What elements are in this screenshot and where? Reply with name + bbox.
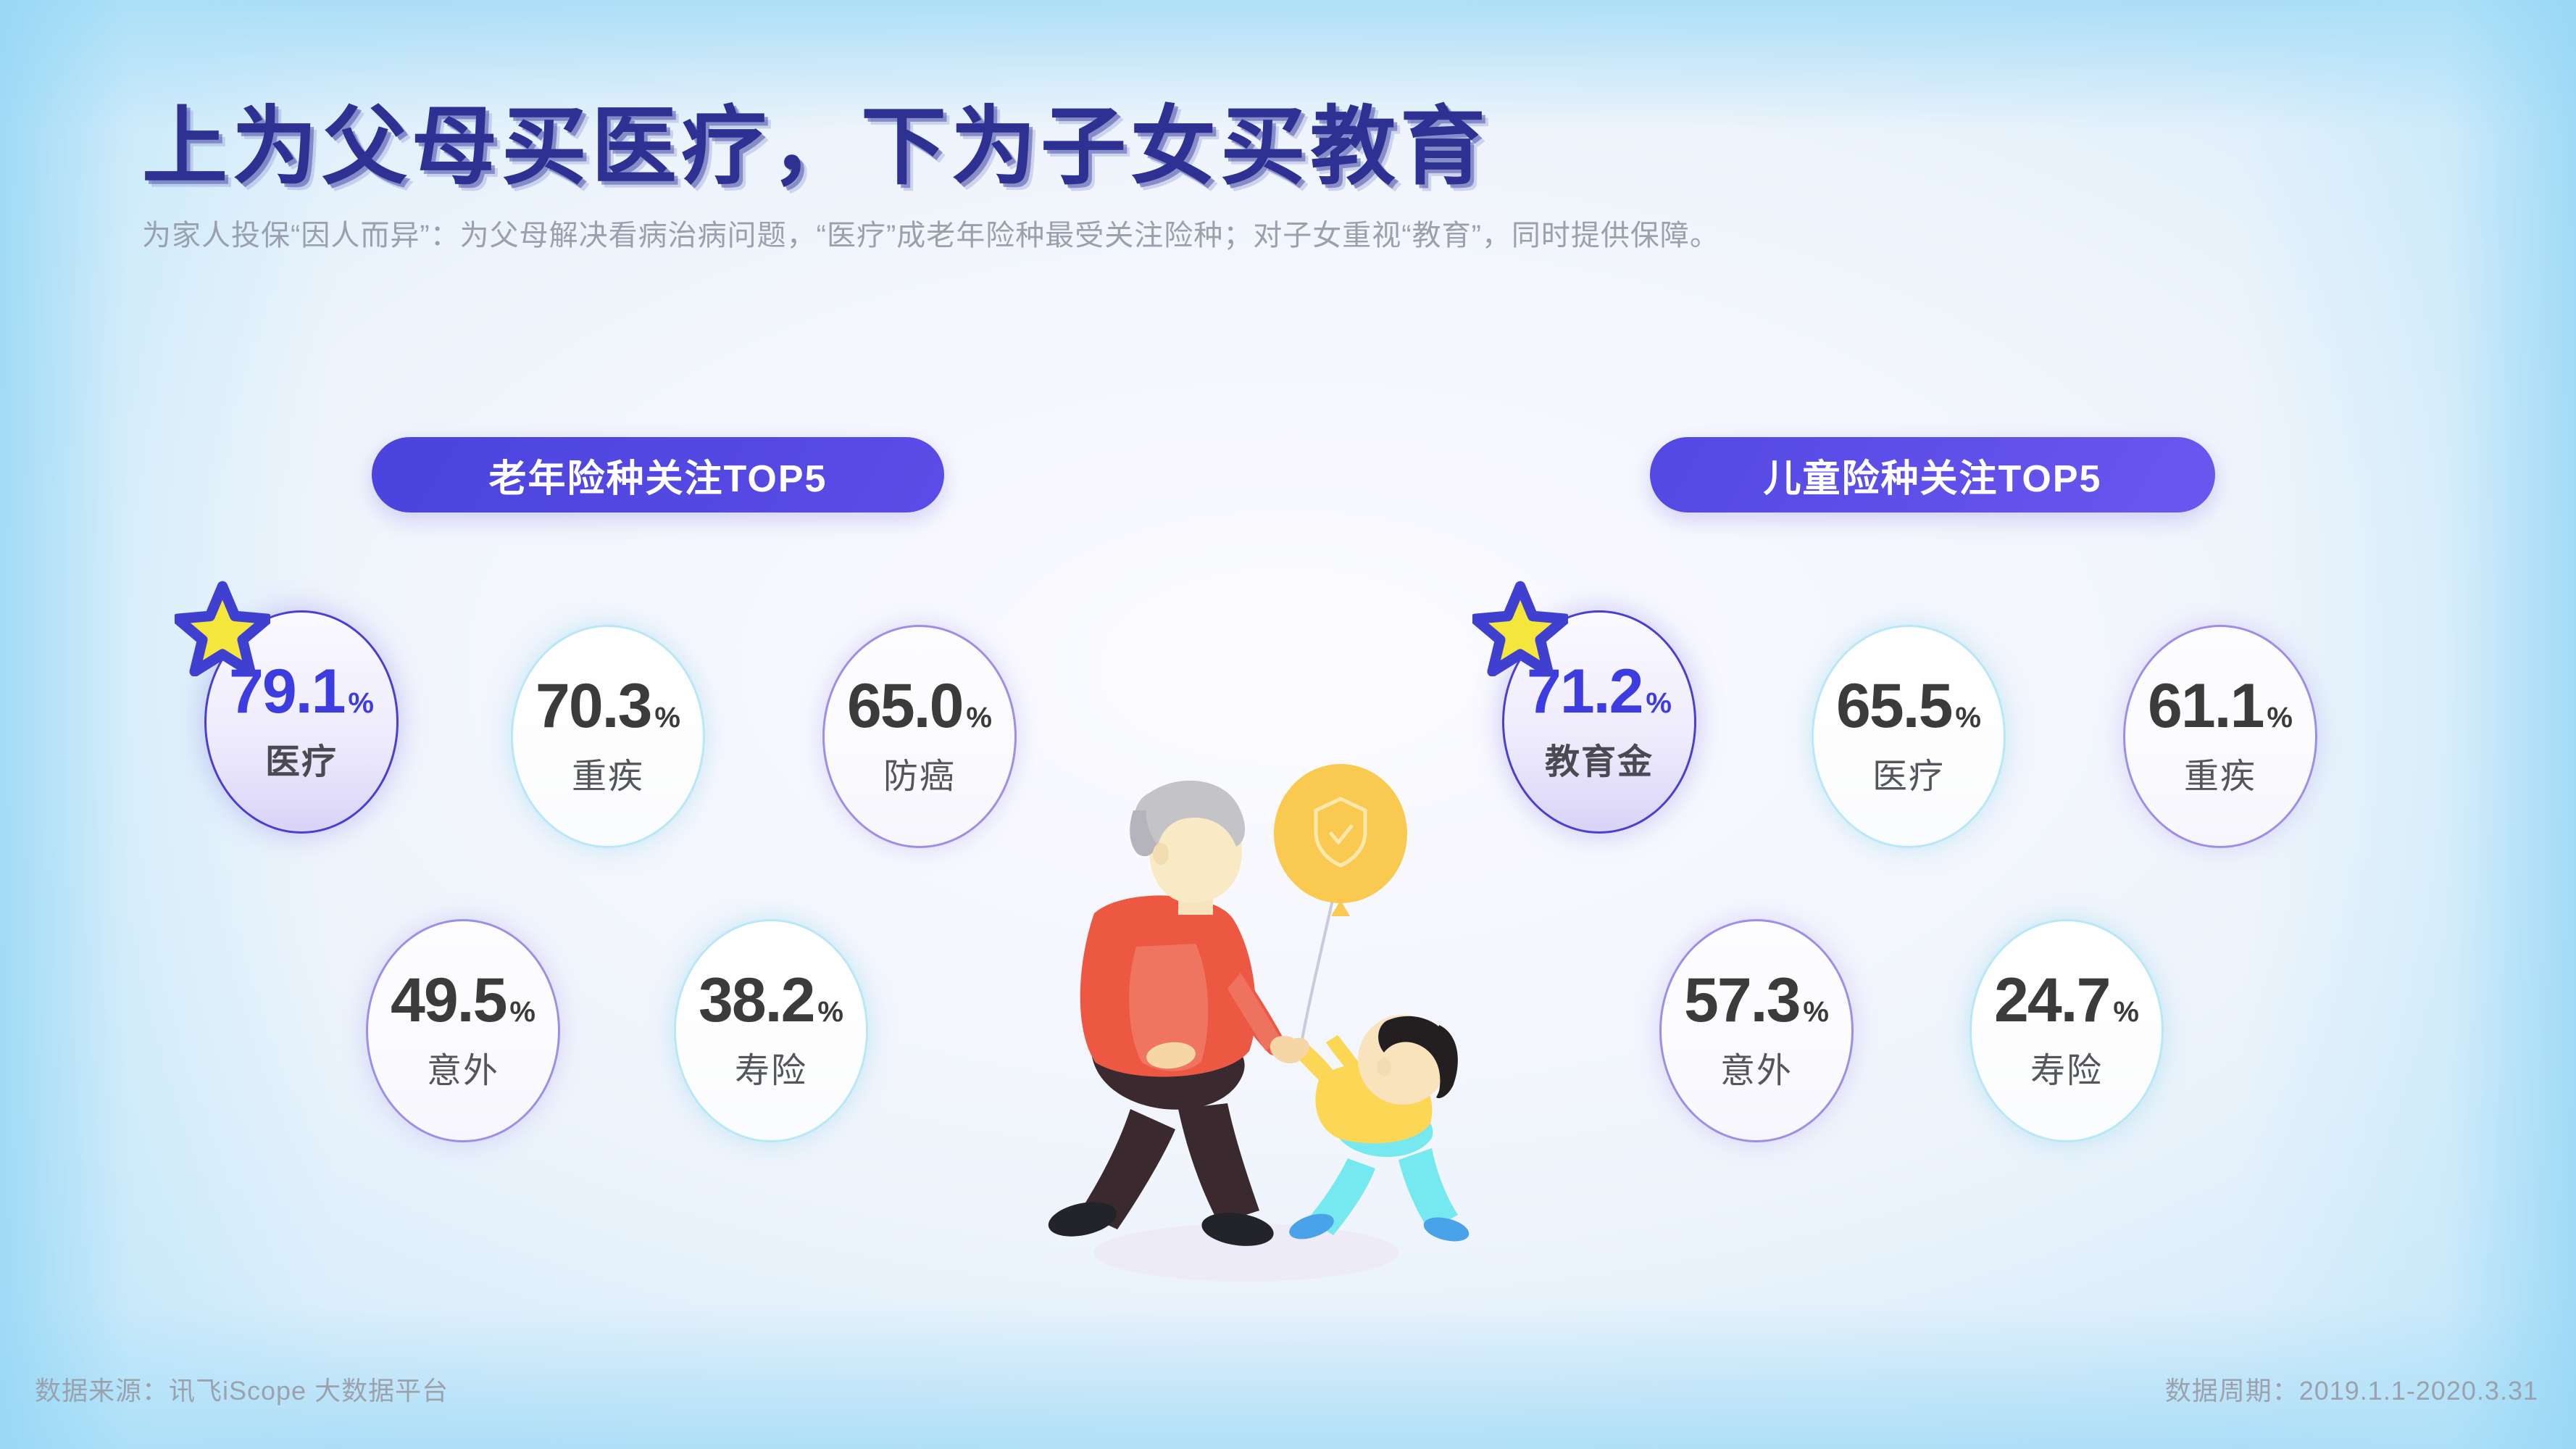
section-badge-elderly-label: 老年险种关注TOP5 <box>489 448 828 502</box>
stat-label: 意外 <box>1720 1042 1793 1092</box>
percent-sign: % <box>2113 997 2139 1026</box>
page-title: 上为父母买医疗，下为子女买教育 <box>142 101 2287 194</box>
stat-value-row: 61.1 % <box>2148 675 2293 737</box>
footer-source: 数据来源：讯飞iScope 大数据平台 <box>35 1370 449 1408</box>
grandmother-and-child-illustration <box>1007 732 1500 1305</box>
stat-label: 意外 <box>427 1042 499 1092</box>
stat-bubble: 38.2 % 寿险 <box>674 919 868 1142</box>
percent-sign: % <box>817 997 843 1026</box>
stat-label: 教育金 <box>1545 733 1654 784</box>
percent-sign: % <box>509 997 535 1026</box>
section-badge-children-label: 儿童险种关注TOP5 <box>1764 448 2102 502</box>
percent-sign: % <box>966 703 992 732</box>
stat-label: 寿险 <box>2030 1042 2103 1092</box>
stat-value: 61.1 <box>2148 675 2263 737</box>
stat-label: 医疗 <box>265 733 338 784</box>
percent-sign: % <box>2267 703 2293 732</box>
stat-value: 65.0 <box>847 675 962 737</box>
stat-value: 49.5 <box>391 969 506 1031</box>
stat-bubble: 49.5 % 意外 <box>366 919 560 1142</box>
stat-value-row: 70.3 % <box>535 675 680 737</box>
stat-label: 重疾 <box>2184 747 2256 798</box>
stat-value: 24.7 <box>1994 969 2109 1031</box>
stat-value-row: 65.0 % <box>847 675 992 737</box>
footer-period: 数据周期：2019.1.1-2020.3.31 <box>2165 1370 2538 1408</box>
page-subtitle: 为家人投保“因人而异”：为父母解决看病治病问题，“医疗”成老年险种最受关注险种；… <box>142 212 2272 260</box>
stat-bubble: 70.3 % 重疾 <box>511 625 705 848</box>
percent-sign: % <box>654 703 680 732</box>
stat-value-row: 65.5 % <box>1836 675 1981 737</box>
section-badge-elderly: 老年险种关注TOP5 <box>372 437 944 512</box>
star-icon <box>1472 581 1568 676</box>
percent-sign: % <box>1803 997 1829 1026</box>
stat-value-row: 24.7 % <box>1994 969 2139 1031</box>
stat-value: 65.5 <box>1836 675 1951 737</box>
stat-value-row: 57.3 % <box>1684 969 1829 1031</box>
stat-bubble: 65.0 % 防癌 <box>822 625 1017 848</box>
stat-bubble: 57.3 % 意外 <box>1659 919 1854 1142</box>
percent-sign: % <box>348 689 374 718</box>
infographic-root: 上为父母买医疗，下为子女买教育 为家人投保“因人而异”：为父母解决看病治病问题，… <box>0 0 2576 1449</box>
stat-label: 医疗 <box>1872 747 1945 798</box>
header: 上为父母买医疗，下为子女买教育 为家人投保“因人而异”：为父母解决看病治病问题，… <box>142 101 2287 260</box>
stat-value: 70.3 <box>535 675 651 737</box>
stat-bubble: 79.1 % 医疗 <box>204 610 399 834</box>
stat-bubble: 24.7 % 寿险 <box>1969 919 2164 1142</box>
star-icon <box>175 581 270 676</box>
stat-bubble: 65.5 % 医疗 <box>1812 625 2006 848</box>
stat-value: 38.2 <box>699 969 814 1031</box>
percent-sign: % <box>1646 689 1672 718</box>
section-badge-children: 儿童险种关注TOP5 <box>1650 437 2215 512</box>
stat-value-row: 49.5 % <box>391 969 535 1031</box>
stat-label: 重疾 <box>572 747 644 798</box>
stat-bubble: 61.1 % 重疾 <box>2123 625 2317 848</box>
stat-label: 寿险 <box>735 1042 807 1092</box>
stat-label: 防癌 <box>883 747 956 798</box>
stat-bubble: 71.2 % 教育金 <box>1502 610 1696 834</box>
stat-value-row: 38.2 % <box>699 969 843 1031</box>
percent-sign: % <box>1955 703 1981 732</box>
stat-value: 57.3 <box>1684 969 1799 1031</box>
